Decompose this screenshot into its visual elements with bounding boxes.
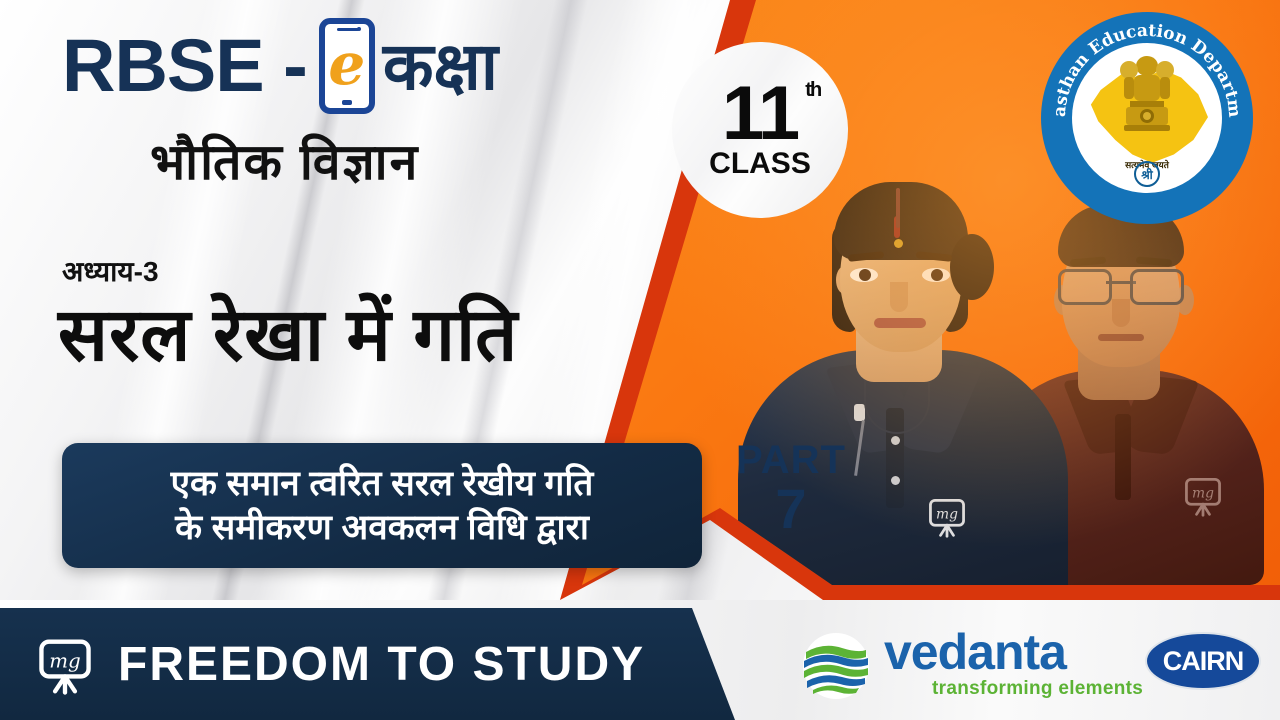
ashoka-lion-capital-icon (1116, 53, 1178, 149)
nose (1112, 299, 1130, 327)
topic-subtitle-box: एक समान त्वरित सरल रेखीय गति के समीकरण अ… (62, 443, 702, 568)
hair-bun (950, 234, 994, 300)
lapel-microphone (854, 404, 865, 421)
mg-blackboard-icon: mg (1180, 472, 1226, 518)
subject-title: भौतिक विज्ञान (150, 126, 419, 194)
shirt-mg-logo: mg (924, 493, 970, 544)
thumbnail-slide: mg (0, 0, 1280, 720)
brand-title-en: RBSE - (62, 29, 307, 103)
bindi (894, 239, 903, 248)
vedanta-globe-icon (800, 630, 872, 702)
eye-right (922, 268, 950, 282)
hair (834, 182, 968, 260)
part-indicator: PART 7 (726, 440, 856, 539)
eye-left (850, 268, 878, 282)
shirt-placket (1115, 414, 1131, 500)
svg-text:mg: mg (1192, 485, 1214, 501)
footer-tagline: FREEDOM TO STUDY (118, 637, 645, 692)
sponsor-cairn: CAIRN (1145, 632, 1261, 690)
nose (890, 282, 908, 312)
rajasthan-education-department-emblem: Rajasthan Education Department सत्यमेव ज… (1041, 12, 1253, 224)
part-label: PART (726, 440, 856, 480)
shirt-button (891, 476, 900, 485)
vedanta-name: vedanta (884, 628, 1143, 676)
phone-home-button (342, 100, 352, 105)
emblem-monogram: श्री (1134, 161, 1160, 187)
eyeglasses (1056, 269, 1186, 301)
emblem-inner: सत्यमेव जयते श्री (1072, 43, 1222, 193)
class-badge: 11 th CLASS (672, 42, 848, 218)
phone-letter-e: e (325, 24, 369, 108)
vedanta-tagline: transforming elements (932, 678, 1143, 700)
chapter-title: सरल रेखा में गति (58, 296, 518, 374)
subtitle-line-1: एक समान त्वरित सरल रेखीय गति (171, 462, 594, 505)
sponsor-vedanta: vedanta transforming elements (800, 628, 1143, 702)
brand-header: RBSE - e कक्षा (62, 18, 498, 114)
mobile-phone-icon: e (319, 18, 375, 114)
subtitle-line-2: के समीकरण अवकलन विधि द्वारा (175, 506, 589, 549)
class-number-value: 11 (722, 71, 798, 156)
part-number: 7 (726, 480, 856, 539)
class-number: 11 th (722, 79, 798, 149)
mg-blackboard-logo-icon: mg (34, 633, 96, 695)
chapter-number: अध्याय-3 (62, 252, 159, 290)
svg-text:mg: mg (936, 506, 958, 522)
footer-bar: mg FREEDOM TO STUDY (0, 608, 760, 720)
mg-logo-text: mg (49, 650, 81, 673)
brand-title-hi: कक्षा (383, 33, 498, 99)
shirt-button (891, 436, 900, 445)
mouth (874, 318, 926, 328)
class-number-suffix: th (805, 81, 820, 99)
hair-parting (896, 188, 900, 228)
cairn-name: CAIRN (1163, 646, 1244, 677)
vedanta-text: vedanta transforming elements (884, 628, 1143, 700)
mouth (1098, 334, 1144, 341)
lens-right (1130, 269, 1184, 305)
mg-blackboard-icon: mg (924, 493, 970, 539)
shirt-mg-logo: mg (1180, 472, 1226, 523)
